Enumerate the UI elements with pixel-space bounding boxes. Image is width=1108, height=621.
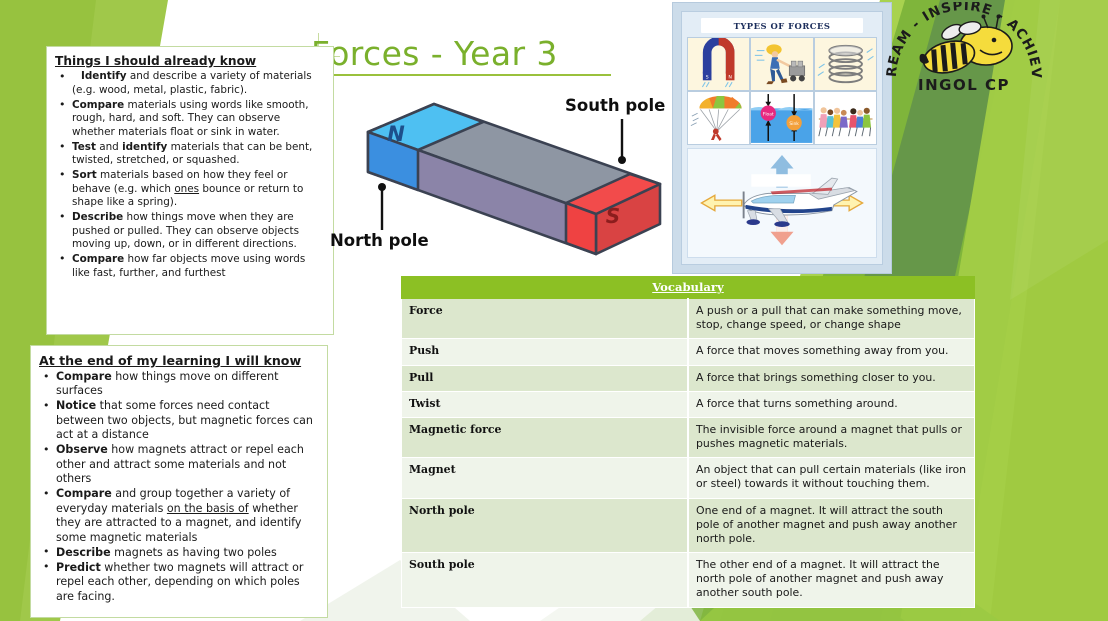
page-title: Forces - Year 3 — [311, 36, 611, 76]
types-of-forces-inner-frame: TYPES OF FORCES S N — [681, 11, 883, 265]
learning-outcomes-panel: At the end of my learning I will know Co… — [30, 345, 328, 618]
vocabulary-row: South poleThe other end of a magnet. It … — [402, 553, 975, 608]
aeroplane-forces-image — [687, 148, 877, 258]
south-pole-label: South pole — [565, 96, 665, 115]
magnet-force-image: S N — [688, 38, 749, 90]
bee-icon — [920, 15, 1012, 78]
prior-knowledge-heading: Things I should already know — [55, 53, 325, 69]
sink-label: Sink — [790, 121, 800, 127]
learning-outcome-item: Compare how things move on different sur… — [39, 370, 319, 399]
learning-outcome-item-lead: Compare — [56, 370, 112, 383]
vocabulary-definition: The other end of a magnet. It will attra… — [688, 553, 975, 608]
magnet-south-letter: S — [606, 204, 620, 228]
vocabulary-row: ForceA push or a pull that can make some… — [402, 299, 975, 339]
types-of-forces-poster: TYPES OF FORCES S N — [672, 2, 892, 274]
prior-knowledge-item: Identify and describe a variety of mater… — [55, 70, 325, 98]
prior-knowledge-item: Compare how far objects move using words… — [55, 253, 325, 281]
prior-knowledge-item-lead: Test — [72, 141, 96, 153]
vocabulary-definition: A force that moves something away from y… — [688, 339, 975, 365]
learning-outcome-item: Notice that some forces need contact bet… — [39, 399, 319, 442]
vocabulary-definition: A force that turns something around. — [688, 391, 975, 417]
vocabulary-term: Push — [402, 339, 689, 365]
learning-outcome-item-lead: Describe — [56, 546, 111, 559]
learning-outcome-item-lead: Notice — [56, 399, 96, 412]
float-sink-image: Float Sink — [751, 92, 812, 144]
prior-knowledge-item-lead: Compare — [72, 253, 124, 265]
svg-text:N: N — [728, 74, 732, 80]
vocabulary-row: North poleOne end of a magnet. It will a… — [402, 498, 975, 553]
learning-outcome-item: Observe how magnets attract or repel eac… — [39, 443, 319, 486]
north-pole-label: North pole — [330, 231, 429, 250]
vocabulary-definition: A force that brings something closer to … — [688, 365, 975, 391]
learning-outcome-item-lead: Observe — [56, 443, 108, 456]
learning-outcome-item-text: magnets as having two poles — [111, 546, 277, 559]
magnet-north-letter: N — [387, 122, 405, 146]
prior-knowledge-item-text: and identify materials that can be bent,… — [72, 141, 312, 167]
prior-knowledge-list: Identify and describe a variety of mater… — [55, 70, 325, 280]
logo-school-name: INGOL CP — [918, 76, 1010, 94]
spring-compression-image — [815, 38, 876, 90]
vocabulary-term: North pole — [402, 498, 689, 553]
vocabulary-row: TwistA force that turns something around… — [402, 391, 975, 417]
vocabulary-table-header-row: Vocabulary — [402, 277, 975, 299]
school-logo-svg: DREAM - INSPIRE - ACHIEVE INGOL CP — [884, 2, 1044, 96]
prior-knowledge-item: Describe how things move when they are p… — [55, 211, 325, 252]
vocabulary-table-body: ForceA push or a pull that can make some… — [402, 299, 975, 608]
tug-of-war-image — [815, 92, 876, 144]
vocabulary-row: PushA force that moves something away fr… — [402, 339, 975, 365]
types-of-forces-grid: S N — [687, 37, 877, 145]
float-label: Float — [763, 112, 774, 118]
prior-knowledge-item: Test and identify materials that can be … — [55, 141, 325, 169]
south-pole-leader-dot — [618, 156, 626, 164]
vocabulary-term: Pull — [402, 365, 689, 391]
prior-knowledge-item-lead: Describe — [72, 211, 123, 223]
vocabulary-term: Magnet — [402, 458, 689, 498]
learning-outcome-item: Describe magnets as having two poles — [39, 546, 319, 560]
vocabulary-term: Force — [402, 299, 689, 339]
vocabulary-term: Magnetic force — [402, 417, 689, 457]
north-pole-leader-dot — [378, 183, 386, 191]
vocabulary-row: PullA force that brings something closer… — [402, 365, 975, 391]
prior-knowledge-item-lead: Sort — [72, 169, 97, 181]
prior-knowledge-item: Sort materials based on how they feel or… — [55, 169, 325, 210]
parachute-air-resistance-image — [688, 92, 749, 144]
types-of-forces-title: TYPES OF FORCES — [701, 18, 863, 33]
prior-knowledge-item: Compare materials using words like smoot… — [55, 99, 325, 140]
learning-outcome-item: Compare and group together a variety of … — [39, 487, 319, 545]
learning-outcome-item-lead: Compare — [56, 487, 112, 500]
prior-knowledge-item-lead: Identify — [72, 70, 127, 82]
vocabulary-table: Vocabulary ForceA push or a pull that ca… — [401, 276, 975, 608]
vocabulary-definition: One end of a magnet. It will attract the… — [688, 498, 975, 553]
pushing-cart-image — [751, 38, 812, 90]
learning-outcomes-heading: At the end of my learning I will know — [39, 352, 319, 369]
vocabulary-definition: The invisible force around a magnet that… — [688, 417, 975, 457]
vocabulary-definition: A push or a pull that can make something… — [688, 299, 975, 339]
vocabulary-row: MagnetAn object that can pull certain ma… — [402, 458, 975, 498]
prior-knowledge-item-lead: Compare — [72, 99, 124, 111]
vocabulary-term: South pole — [402, 553, 689, 608]
vocabulary-row: Magnetic forceThe invisible force around… — [402, 417, 975, 457]
prior-knowledge-panel: Things I should already know Identify an… — [46, 46, 334, 335]
learning-outcome-item: Predict whether two magnets will attract… — [39, 561, 319, 604]
vocabulary-heading: Vocabulary — [402, 277, 975, 299]
learning-outcome-item-lead: Predict — [56, 561, 101, 574]
prior-knowledge-item-text: materials based on how they feel or beha… — [72, 169, 303, 209]
school-logo: DREAM - INSPIRE - ACHIEVE INGOL CP — [884, 2, 1044, 96]
vocabulary-term: Twist — [402, 391, 689, 417]
vocabulary-definition: An object that can pull certain material… — [688, 458, 975, 498]
learning-outcomes-list: Compare how things move on different sur… — [39, 370, 319, 604]
svg-text:S: S — [706, 74, 709, 80]
